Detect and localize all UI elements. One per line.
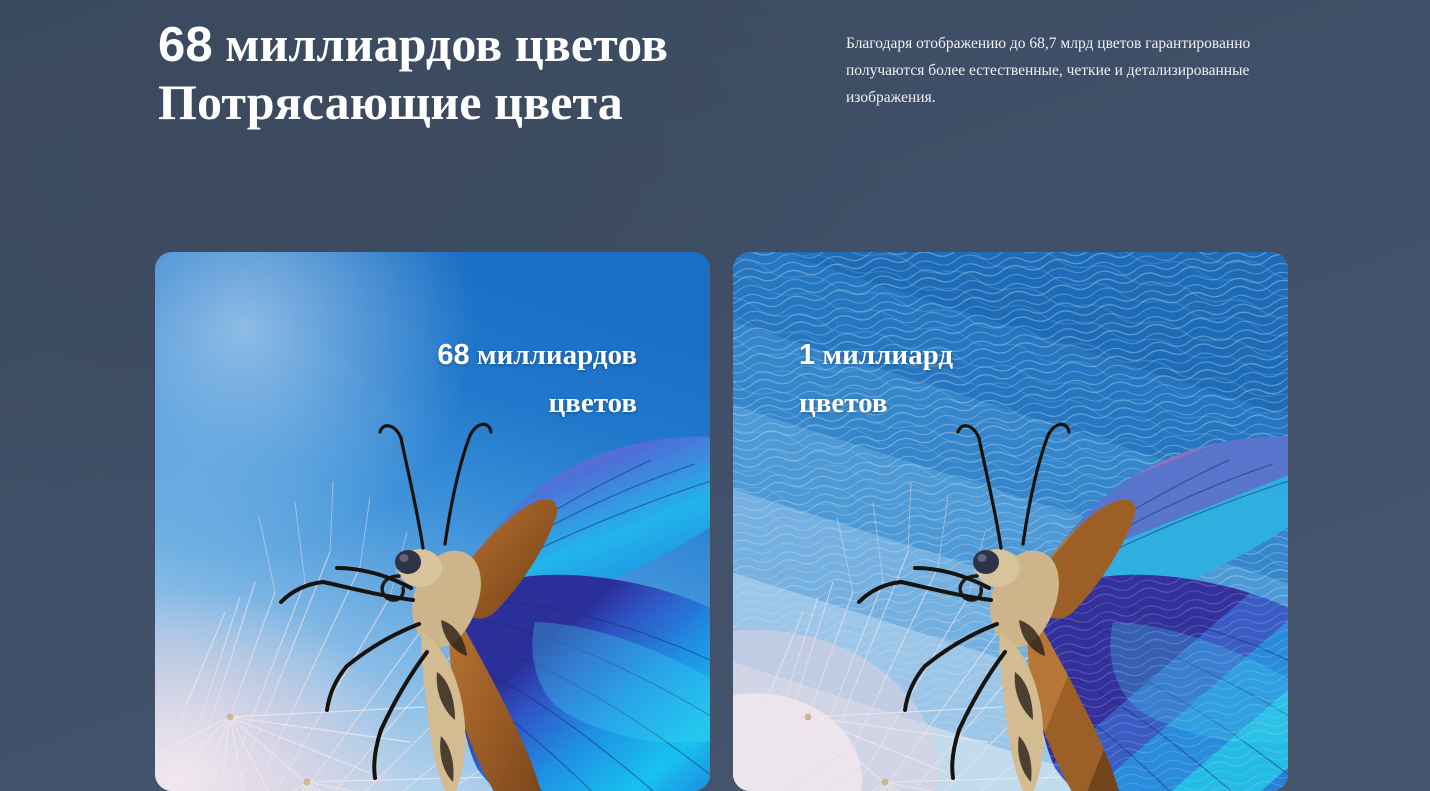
card-label-rest-poor: миллиард цветов [799,339,953,419]
card-label-rest-good: миллиардов цветов [470,339,637,419]
headline-line1-rest: миллиардов цветов [213,16,668,72]
intro-paragraph: Благодаря отображению до 68,7 млрд цвето… [846,30,1296,111]
comparison-card-good: 68 миллиардов цветов [155,252,710,791]
card-label-poor: 1 миллиард цветов [799,331,953,427]
headline-number: 68 [158,18,213,72]
card-label-number-poor: 1 [799,339,815,371]
headline-line2: Потрясающие цвета [158,74,798,131]
card-label-number-good: 68 [437,339,469,371]
comparison-cards: 68 миллиардов цветов [155,252,1289,791]
card-label-good: 68 миллиардов цветов [437,331,637,427]
comparison-card-poor: 1 миллиард цветов [733,252,1288,791]
page-title: 68 миллиардов цветов Потрясающие цвета [158,16,798,131]
